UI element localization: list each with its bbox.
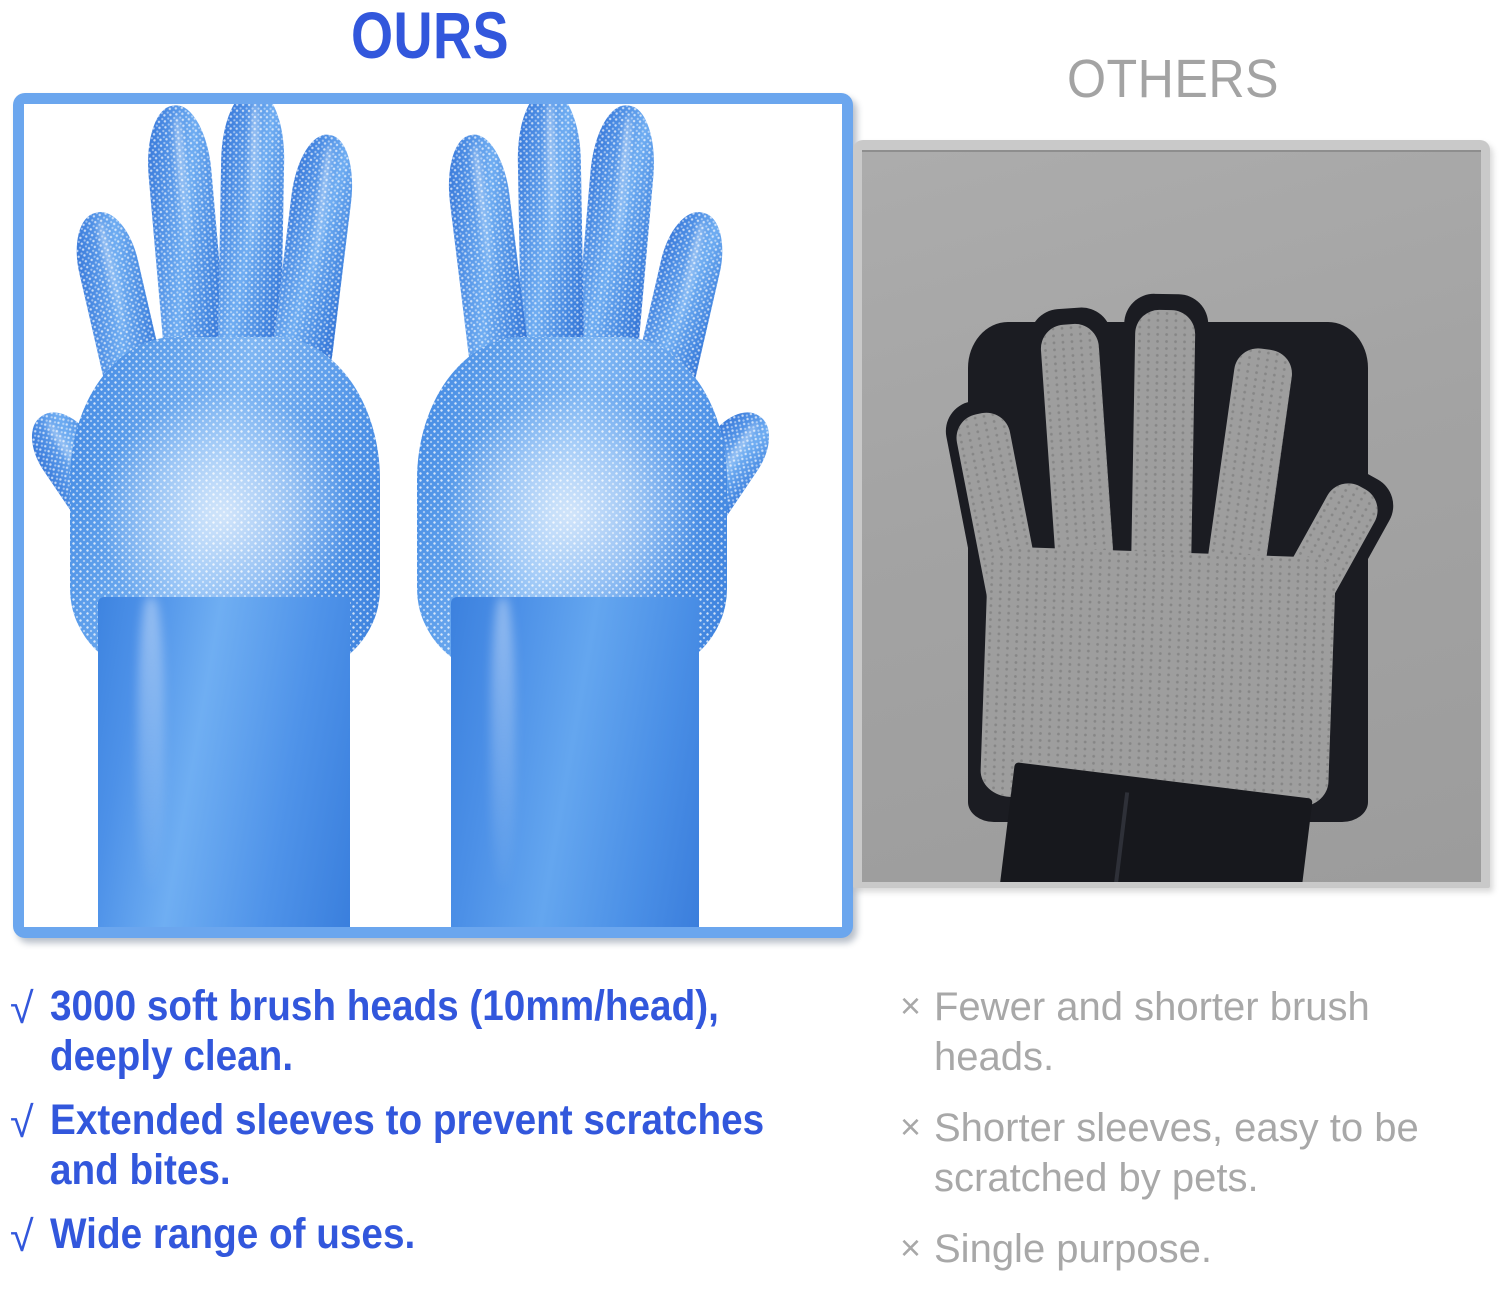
others-feature-text: Single purpose.	[934, 1224, 1490, 1274]
others-image-panel	[853, 140, 1490, 888]
glove-extended-sleeve	[98, 597, 350, 927]
cross-mark-icon: ×	[900, 1224, 934, 1266]
ours-feature-list: √ 3000 soft brush heads (10mm/head), dee…	[10, 982, 870, 1273]
others-feature-item: × Shorter sleeves, easy to be scratched …	[900, 1103, 1490, 1204]
ours-feature-text: Wide range of uses.	[50, 1210, 788, 1260]
others-feature-text: Shorter sleeves, easy to be scratched by…	[934, 1103, 1490, 1204]
glove-extended-sleeve	[451, 597, 699, 927]
ours-feature-item: √ 3000 soft brush heads (10mm/head), dee…	[10, 982, 870, 1082]
glove-finger	[517, 104, 585, 363]
bristle-texture-icon	[517, 104, 585, 363]
check-mark-icon: √	[10, 982, 50, 1031]
others-feature-text: Fewer and shorter brush heads.	[934, 982, 1490, 1083]
ours-feature-item: √ Extended sleeves to prevent scratches …	[10, 1096, 870, 1196]
ours-image-panel	[13, 93, 853, 938]
others-product-photo	[862, 150, 1481, 882]
gray-grooming-glove	[950, 280, 1390, 880]
blue-glove-left	[62, 112, 392, 927]
blue-glove-right	[409, 112, 739, 927]
ours-feature-text: Extended sleeves to prevent scratches an…	[50, 1096, 788, 1196]
cross-mark-icon: ×	[900, 982, 934, 1024]
check-mark-icon: √	[10, 1096, 50, 1145]
ours-product-photo	[24, 104, 842, 927]
cross-mark-icon: ×	[900, 1103, 934, 1145]
ours-title: OURS	[77, 2, 782, 68]
check-mark-icon: √	[10, 1210, 50, 1259]
others-feature-item: × Fewer and shorter brush heads.	[900, 982, 1490, 1083]
ours-feature-item: √ Wide range of uses.	[10, 1210, 870, 1260]
others-title: OTHERS	[875, 52, 1470, 106]
glove-finger	[143, 104, 229, 369]
ours-feature-text: 3000 soft brush heads (10mm/head), deepl…	[50, 982, 788, 1082]
bristle-texture-icon	[143, 104, 229, 369]
others-feature-item: × Single purpose.	[900, 1224, 1490, 1274]
others-feature-list: × Fewer and shorter brush heads. × Short…	[900, 982, 1490, 1294]
